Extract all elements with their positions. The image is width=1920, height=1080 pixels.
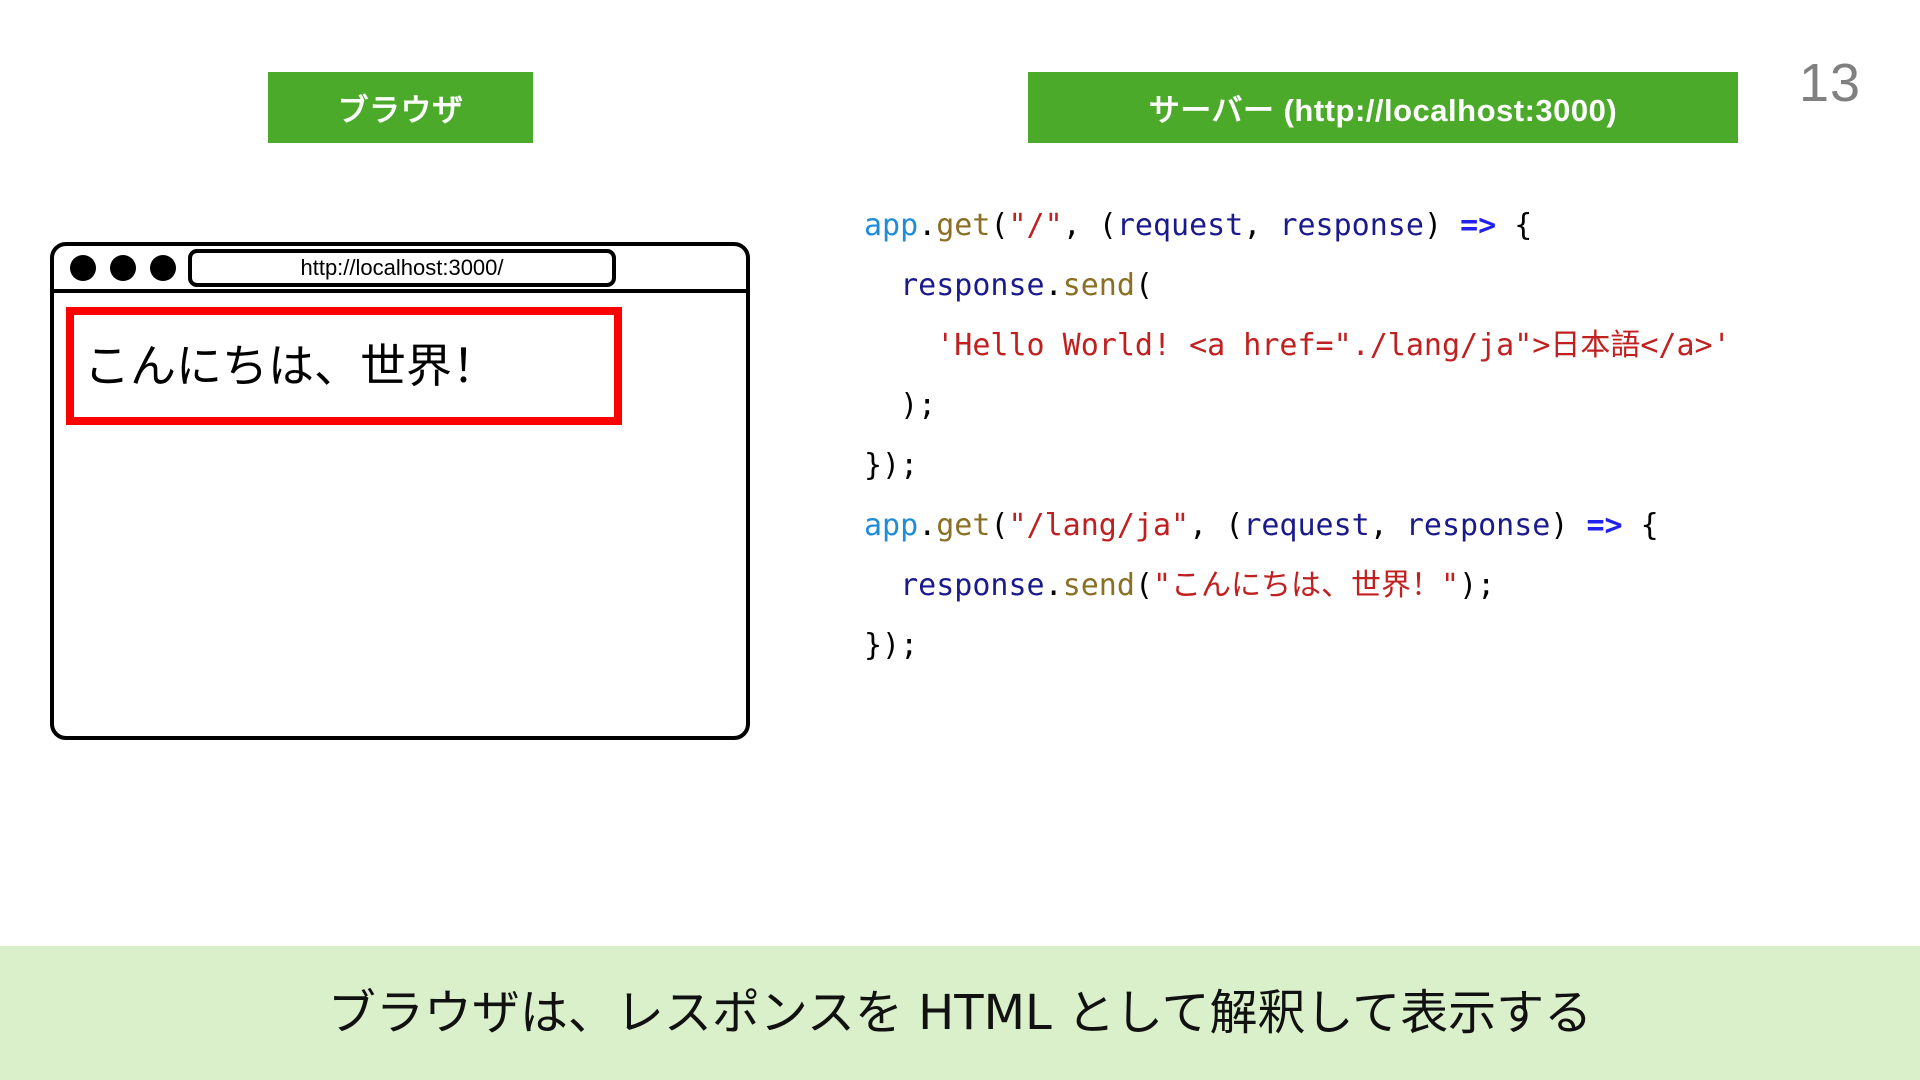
code-token: => xyxy=(1460,208,1496,243)
browser-section-header-label: ブラウザ xyxy=(338,85,464,130)
browser-mockup-window: http://localhost:3000/ こんにちは、世界！ xyxy=(50,242,750,740)
code-token: => xyxy=(1587,508,1623,543)
code-token: send xyxy=(1063,268,1135,303)
code-token: ( xyxy=(1135,568,1153,603)
code-token: response xyxy=(1406,508,1551,543)
code-token xyxy=(864,268,900,303)
code-token: response xyxy=(900,568,1045,603)
code-token: app xyxy=(864,208,918,243)
code-token: , xyxy=(1243,208,1279,243)
code-token: "/lang/ja" xyxy=(1009,508,1190,543)
code-token: ( xyxy=(990,508,1008,543)
code-token: get xyxy=(936,508,990,543)
window-maximize-dot-icon[interactable] xyxy=(150,255,176,281)
caption-text: ブラウザは、レスポンスを HTML として解釈して表示する xyxy=(328,989,1592,1037)
code-token: { xyxy=(1496,208,1532,243)
code-line: ); xyxy=(864,376,1884,436)
code-token: "こんにちは、世界！" xyxy=(1153,568,1459,603)
rendered-output-highlight: こんにちは、世界！ xyxy=(66,307,622,425)
browser-viewport: こんにちは、世界！ xyxy=(54,293,746,736)
code-token: request xyxy=(1243,508,1369,543)
code-token: }); xyxy=(864,628,918,663)
code-token: . xyxy=(918,508,936,543)
window-controls xyxy=(70,255,176,281)
server-section-header-label: サーバー (http://localhost:3000) xyxy=(1149,85,1617,130)
code-token: . xyxy=(918,208,936,243)
code-token: . xyxy=(1045,268,1063,303)
code-token: ) xyxy=(1424,208,1460,243)
code-token: request xyxy=(1117,208,1243,243)
code-token: , ( xyxy=(1189,508,1243,543)
window-minimize-dot-icon[interactable] xyxy=(110,255,136,281)
code-token xyxy=(864,568,900,603)
code-token: { xyxy=(1623,508,1659,543)
code-token: response xyxy=(1279,208,1424,243)
rendered-output-text: こんにちは、世界！ xyxy=(74,343,498,389)
code-token: response xyxy=(900,268,1045,303)
slide-number: 13 xyxy=(1770,56,1890,110)
code-token: , xyxy=(1370,508,1406,543)
code-line: response.send("こんにちは、世界！"); xyxy=(864,556,1884,616)
code-line: 'Hello World! <a href="./lang/ja">日本語</a… xyxy=(864,316,1884,376)
browser-section-header: ブラウザ xyxy=(268,72,533,143)
code-token: ); xyxy=(1459,568,1495,603)
code-line: app.get("/lang/ja", (request, response) … xyxy=(864,496,1884,556)
code-line: }); xyxy=(864,616,1884,676)
code-line: }); xyxy=(864,436,1884,496)
code-token xyxy=(864,328,936,363)
code-token: 'Hello World! <a href="./lang/ja">日本語</a… xyxy=(936,328,1730,363)
code-token: }); xyxy=(864,448,918,483)
code-token: ( xyxy=(990,208,1008,243)
code-token: , ( xyxy=(1063,208,1117,243)
code-token: get xyxy=(936,208,990,243)
code-line: app.get("/", (request, response) => { xyxy=(864,196,1884,256)
code-token: app xyxy=(864,508,918,543)
code-token: send xyxy=(1063,568,1135,603)
address-bar[interactable]: http://localhost:3000/ xyxy=(188,249,616,287)
browser-titlebar: http://localhost:3000/ xyxy=(54,246,746,293)
code-token: "/" xyxy=(1009,208,1063,243)
server-code-listing: app.get("/", (request, response) => { re… xyxy=(864,196,1884,676)
window-close-dot-icon[interactable] xyxy=(70,255,96,281)
code-token: . xyxy=(1045,568,1063,603)
code-line: response.send( xyxy=(864,256,1884,316)
code-token: ( xyxy=(1135,268,1153,303)
code-token: ); xyxy=(864,388,936,423)
code-token: ) xyxy=(1550,508,1586,543)
server-section-header: サーバー (http://localhost:3000) xyxy=(1028,72,1738,143)
address-bar-url: http://localhost:3000/ xyxy=(300,257,503,279)
caption-band: ブラウザは、レスポンスを HTML として解釈して表示する xyxy=(0,946,1920,1080)
